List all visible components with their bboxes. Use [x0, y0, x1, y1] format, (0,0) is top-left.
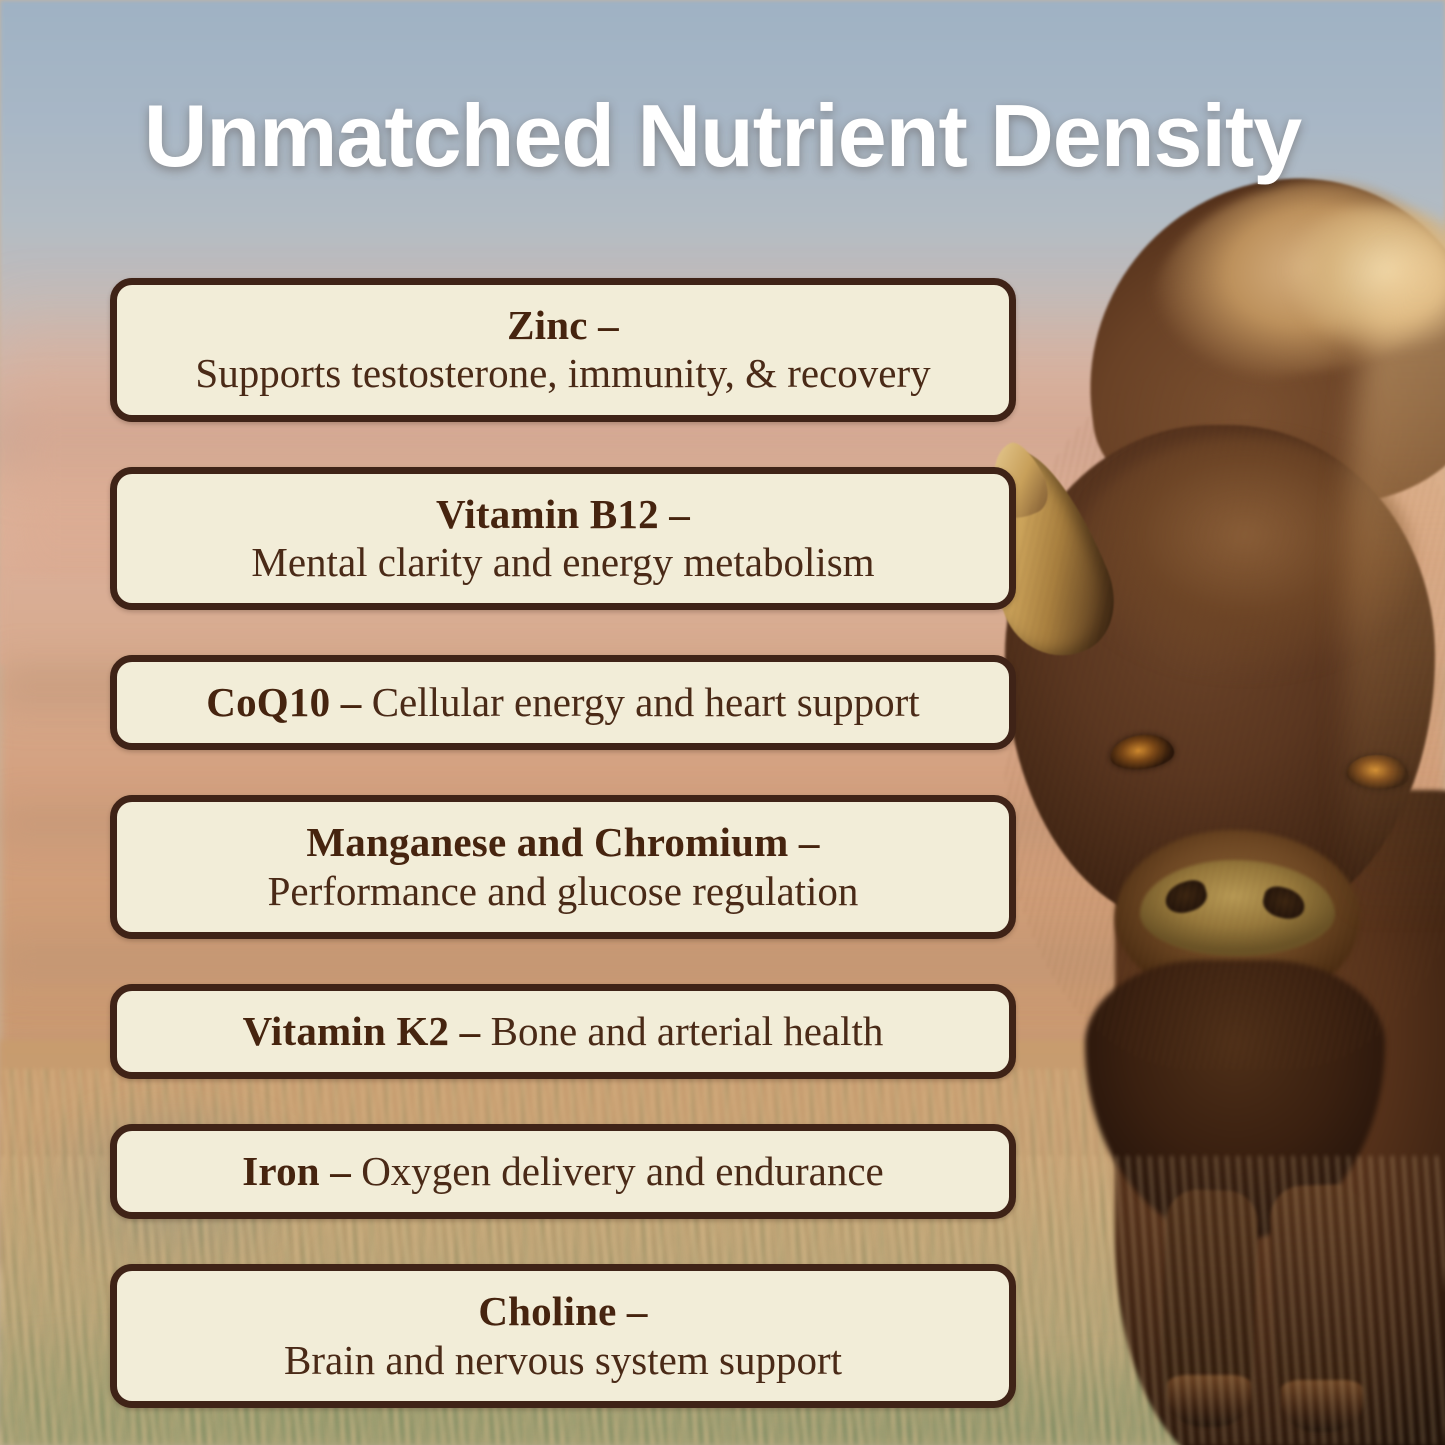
nutrient-description: Bone and arterial health: [480, 1008, 883, 1054]
nutrient-card-vitamin-b12: Vitamin B12 – Mental clarity and energy …: [110, 467, 1016, 611]
nutrient-card-vitamin-k2: Vitamin K2 – Bone and arterial health: [110, 984, 1016, 1079]
nutrient-card-zinc: Zinc – Supports testosterone, immunity, …: [110, 278, 1016, 422]
content-layer: Unmatched Nutrient Density Zinc – Suppor…: [0, 0, 1445, 1445]
nutrient-line: CoQ10 – Cellular energy and heart suppor…: [139, 678, 987, 727]
nutrient-line: Iron – Oxygen delivery and endurance: [139, 1147, 987, 1196]
nutrient-card-iron: Iron – Oxygen delivery and endurance: [110, 1124, 1016, 1219]
nutrient-card-choline: Choline – Brain and nervous system suppo…: [110, 1264, 1016, 1408]
nutrient-term: Choline –: [139, 1287, 987, 1335]
nutrient-term: CoQ10 –: [206, 679, 361, 725]
nutrient-term: Iron –: [242, 1148, 351, 1194]
nutrient-card-manganese-chromium: Manganese and Chromium – Performance and…: [110, 795, 1016, 939]
nutrient-term: Vitamin B12 –: [139, 490, 987, 538]
nutrient-description: Brain and nervous system support: [139, 1336, 987, 1385]
nutrient-term: Manganese and Chromium –: [139, 818, 987, 866]
nutrient-term: Vitamin K2 –: [243, 1008, 481, 1054]
nutrient-term: Zinc –: [139, 301, 987, 349]
nutrient-description: Performance and glucose regulation: [139, 867, 987, 916]
nutrient-card-coq10: CoQ10 – Cellular energy and heart suppor…: [110, 655, 1016, 750]
nutrient-card-list: Zinc – Supports testosterone, immunity, …: [110, 278, 1016, 1408]
page-title: Unmatched Nutrient Density: [0, 92, 1445, 180]
nutrient-line: Vitamin K2 – Bone and arterial health: [139, 1007, 987, 1056]
infographic-canvas: Unmatched Nutrient Density Zinc – Suppor…: [0, 0, 1445, 1445]
nutrient-description: Cellular energy and heart support: [361, 679, 919, 725]
nutrient-description: Supports testosterone, immunity, & recov…: [139, 349, 987, 398]
nutrient-description: Oxygen delivery and endurance: [351, 1148, 884, 1194]
nutrient-description: Mental clarity and energy metabolism: [139, 538, 987, 587]
